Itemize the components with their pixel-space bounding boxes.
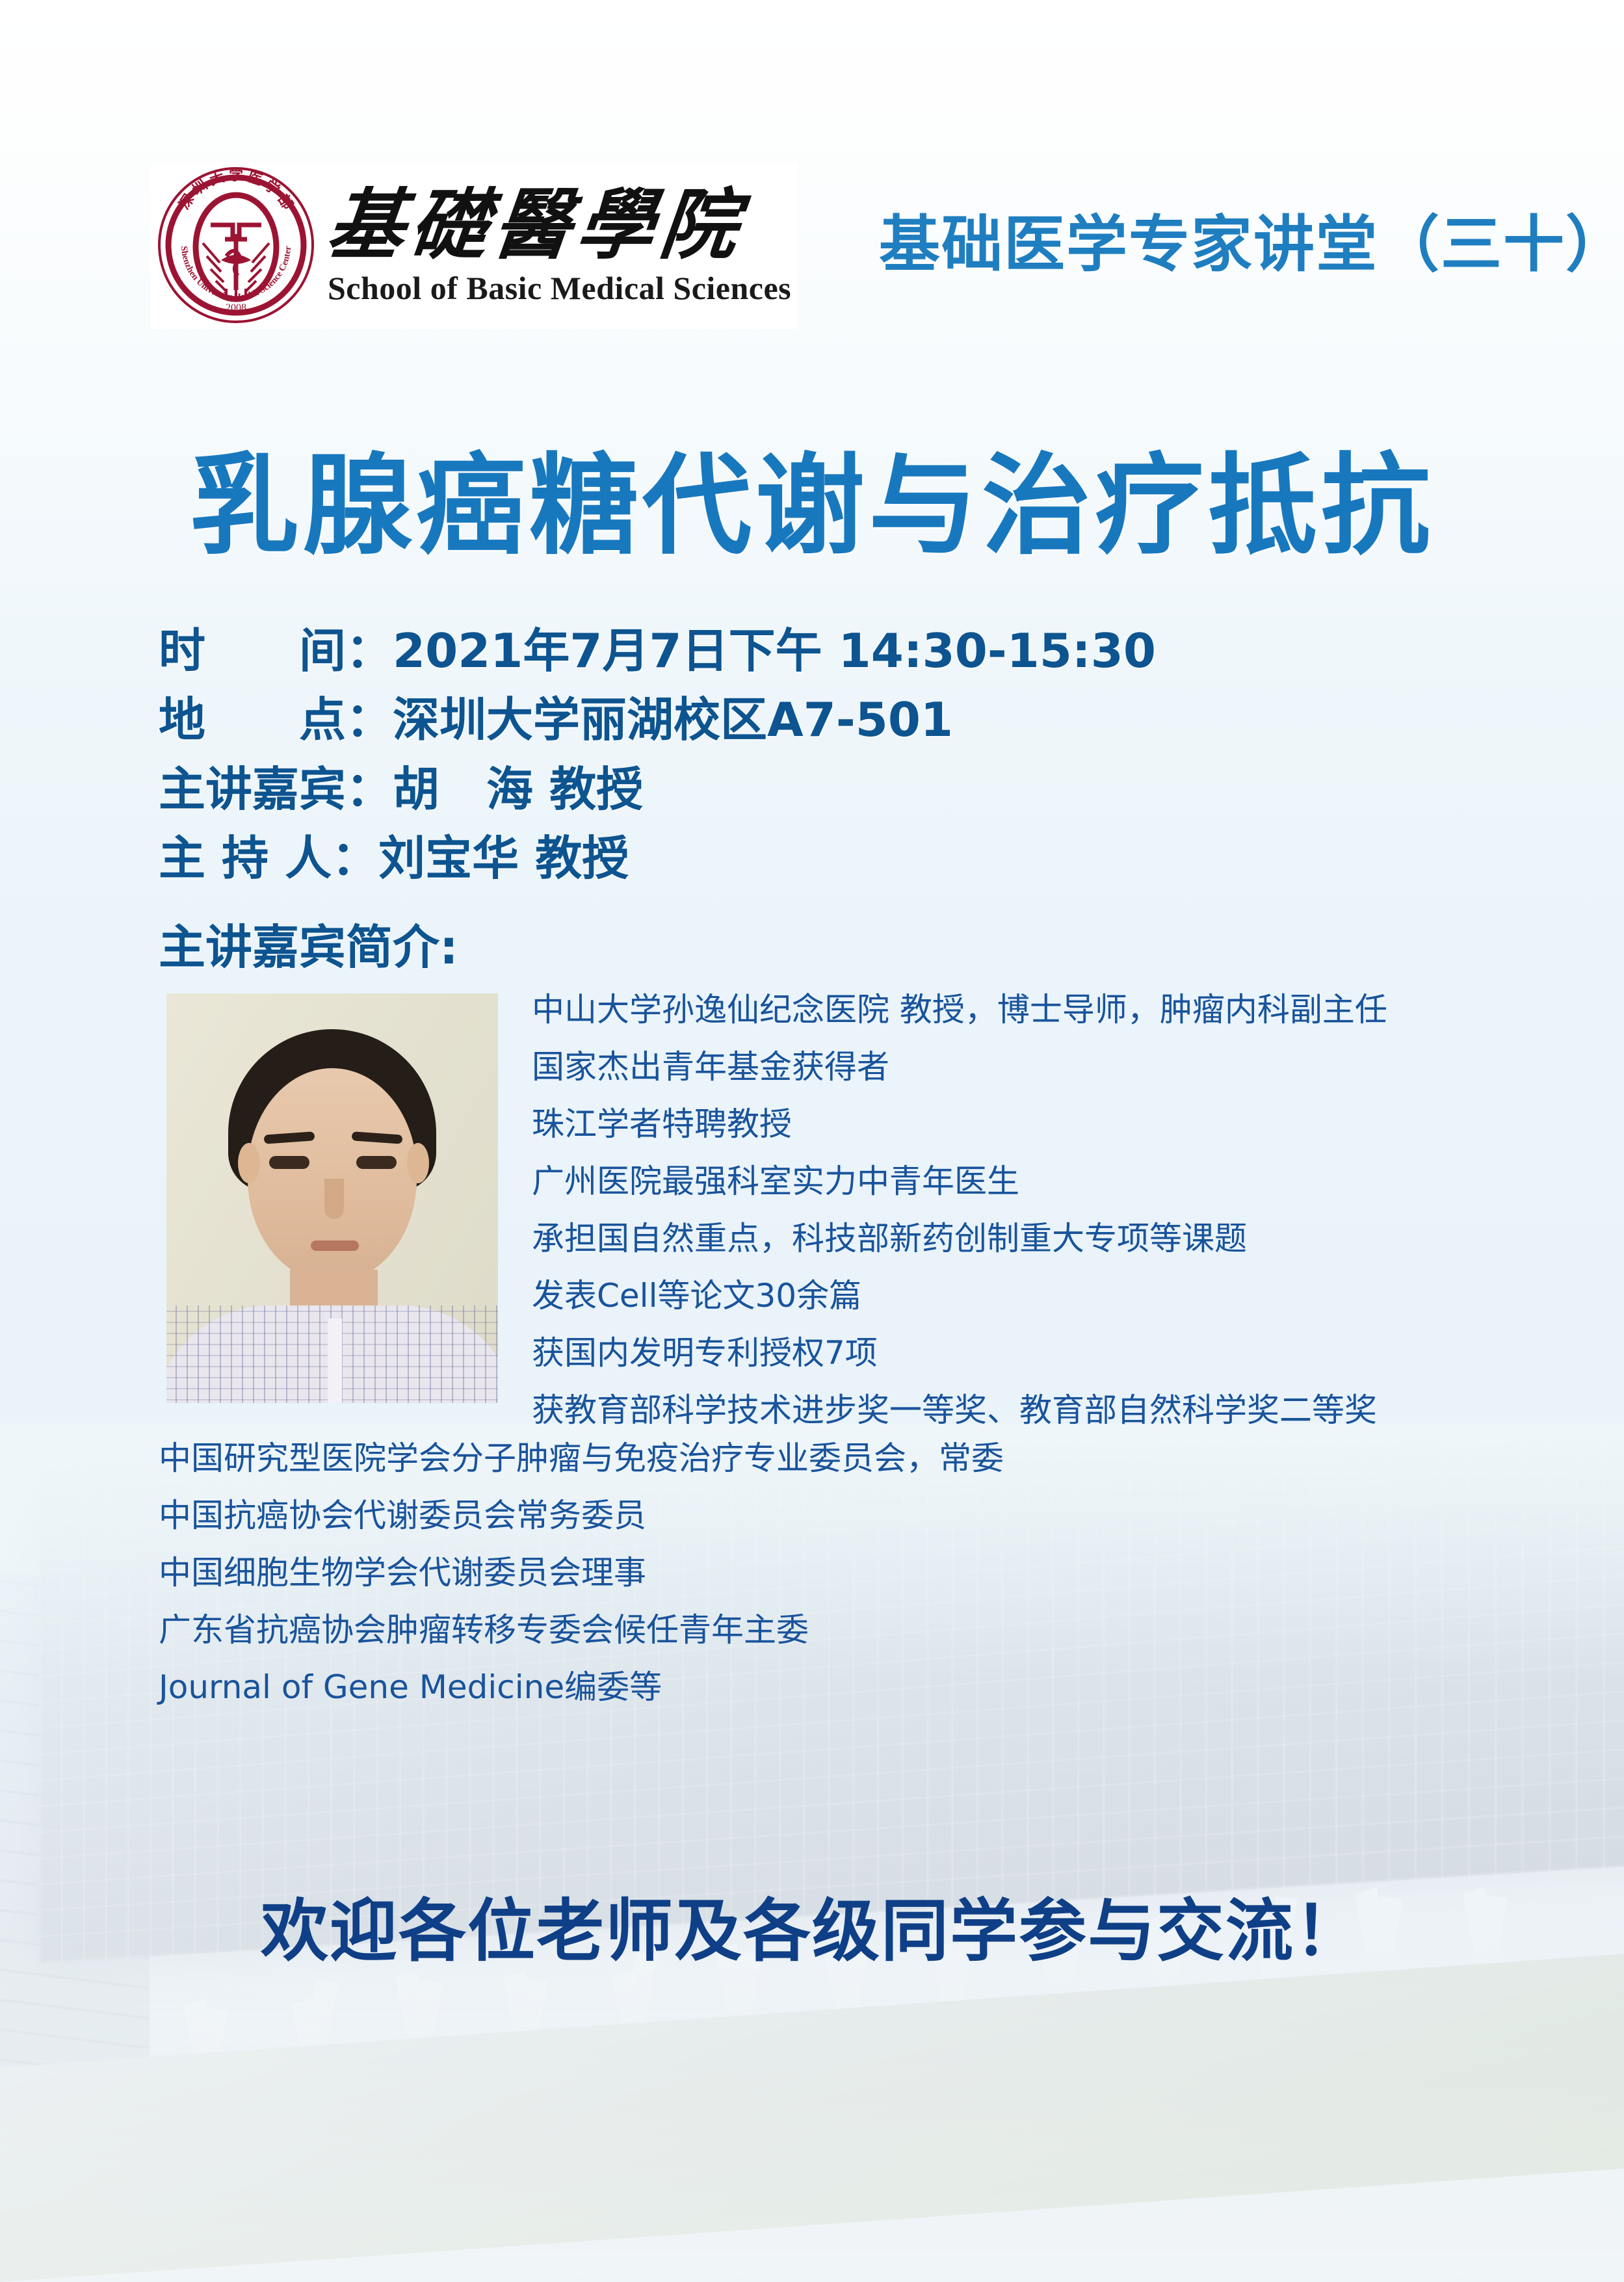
- event-info-label: 主讲嘉宾：: [159, 762, 393, 817]
- portrait-mouth: [311, 1240, 359, 1251]
- speaker-bio-right-column: 中山大学孙逸仙纪念医院 教授，博士导师，肿瘤内科副主任国家杰出青年基金获得者珠江…: [532, 993, 1507, 1451]
- event-info-label: 主 持 人：: [159, 831, 378, 885]
- event-info-value: 胡 海 教授: [393, 762, 643, 817]
- poster-canvas: 2008 深 圳 大 学 医 学 部 Shenzhen University H…: [0, 0, 1624, 2282]
- event-info-row: 时 间：2021年7月7日下午 14:30-15:30: [159, 627, 1459, 675]
- portrait-eye-left: [269, 1156, 309, 1169]
- school-name-en: School of Basic Medical Sciences: [328, 269, 791, 307]
- portrait-ear-right: [407, 1143, 429, 1183]
- speaker-bio-full-width-list: 中国研究型医院学会分子肿瘤与免疫治疗专业委员会，常委中国抗癌协会代谢委员会常务委…: [159, 1442, 1524, 1728]
- portrait-ear-left: [238, 1143, 260, 1183]
- bio-line: 发表Cell等论文30余篇: [532, 1279, 1507, 1312]
- portrait-shirt-placket: [328, 1318, 342, 1403]
- event-info-list: 时 间：2021年7月7日下午 14:30-15:30地 点：深圳大学丽湖校区A…: [159, 627, 1459, 904]
- bio-line: 中国细胞生物学会代谢委员会理事: [159, 1556, 1524, 1589]
- bio-line: 珠江学者特聘教授: [532, 1108, 1507, 1140]
- event-info-label: 地 点：: [159, 692, 393, 747]
- event-info-value: 2021年7月7日下午 14:30-15:30: [393, 623, 1156, 678]
- event-info-row: 主 持 人：刘宝华 教授: [159, 835, 1459, 882]
- school-logo-lockup: 2008 深 圳 大 学 医 学 部 Shenzhen University H…: [151, 163, 798, 329]
- school-name-block: 基礎醫學院 School of Basic Medical Sciences: [328, 183, 791, 306]
- event-info-value: 深圳大学丽湖校区A7-501: [393, 692, 953, 747]
- school-name-cn: 基礎醫學院: [323, 183, 796, 266]
- bio-line: 国家杰出青年基金获得者: [532, 1051, 1507, 1083]
- page-title: 乳腺癌糖代谢与治疗抵抗: [0, 417, 1624, 575]
- bio-line: 广东省抗癌协会肿瘤转移专委会候任青年主委: [159, 1614, 1524, 1646]
- bio-line: 中国抗癌协会代谢委员会常务委员: [159, 1499, 1524, 1532]
- svg-text:深 圳 大 学 医 学 部: 深 圳 大 学 医 学 部: [176, 167, 296, 212]
- university-seal-icon: 2008 深 圳 大 学 医 学 部 Shenzhen University H…: [156, 165, 316, 325]
- lecture-series-title: 基础医学专家讲堂（三十）: [879, 195, 1624, 283]
- portrait-eye-right: [356, 1156, 397, 1169]
- speaker-portrait-photo: [166, 993, 498, 1403]
- welcome-message: 欢迎各位老师及各级同学参与交流！: [0, 1876, 1624, 1974]
- bio-line: 获国内发明专利授权7项: [532, 1337, 1507, 1369]
- event-info-row: 地 点：深圳大学丽湖校区A7-501: [159, 696, 1459, 744]
- event-info-label: 时 间：: [159, 623, 393, 678]
- bio-line: Journal of Gene Medicine编委等: [159, 1671, 1524, 1703]
- bio-line: 获教育部科学技术进步奖一等奖、教育部自然科学奖二等奖: [532, 1394, 1507, 1426]
- poster-header: 2008 深 圳 大 学 医 学 部 Shenzhen University H…: [0, 163, 1624, 345]
- bio-line: 中山大学孙逸仙纪念医院 教授，博士导师，肿瘤内科副主任: [532, 993, 1507, 1026]
- event-info-row: 主讲嘉宾：胡 海 教授: [159, 766, 1459, 813]
- portrait-nose: [324, 1179, 344, 1219]
- speaker-bio-heading: 主讲嘉宾简介:: [159, 909, 458, 977]
- event-info-value: 刘宝华 教授: [378, 831, 629, 885]
- svg-text:2008: 2008: [226, 302, 246, 313]
- bio-line: 中国研究型医院学会分子肿瘤与免疫治疗专业委员会，常委: [159, 1442, 1524, 1475]
- bio-line: 广州医院最强科室实力中青年医生: [532, 1165, 1507, 1198]
- bio-line: 承担国自然重点，科技部新药创制重大专项等课题: [532, 1222, 1507, 1255]
